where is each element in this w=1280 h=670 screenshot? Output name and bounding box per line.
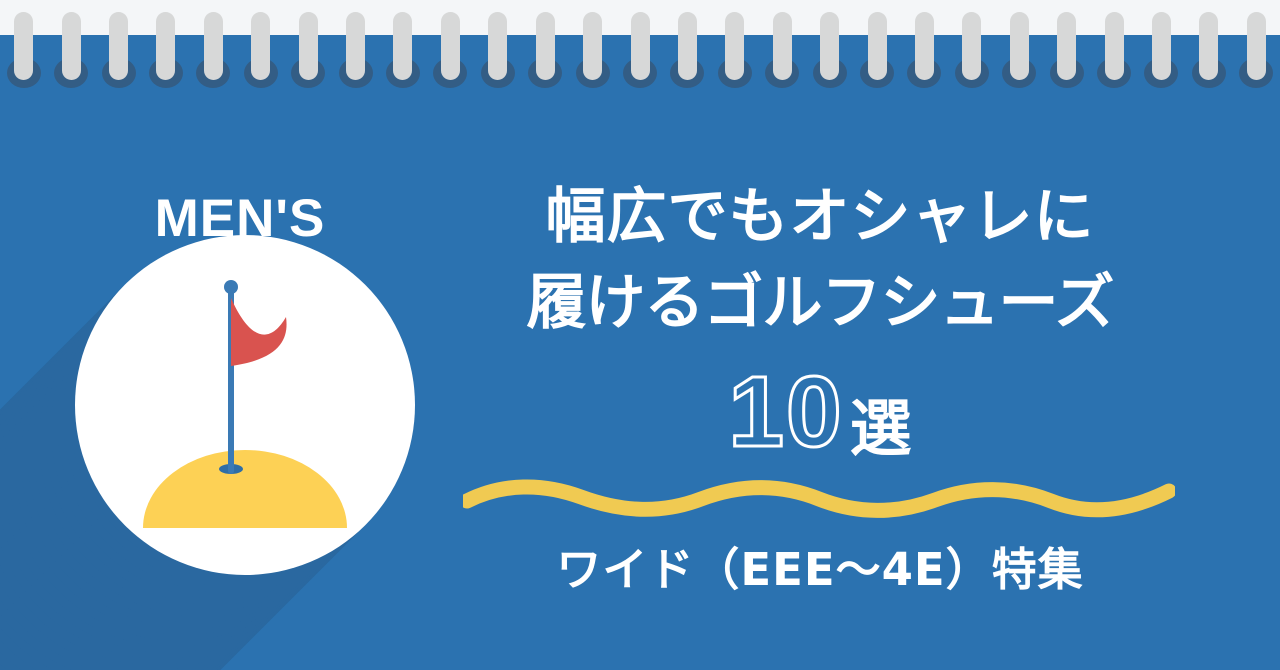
spiral-ring (536, 12, 555, 80)
spiral-ring (204, 12, 223, 80)
spiral-ring (820, 12, 839, 80)
spiral-ring (62, 12, 81, 80)
headline: 幅広でもオシャレに 履けるゴルフシューズ (455, 175, 1185, 347)
spiral-ring (1010, 12, 1029, 80)
subtitle: ワイド（EEE〜4E）特集 (455, 543, 1185, 597)
spiral-ring (678, 12, 697, 80)
headline-line-2: 履けるゴルフシューズ (455, 261, 1185, 347)
count-number: 10 (728, 362, 843, 464)
spiral-ring (631, 12, 650, 80)
spiral-ring (441, 12, 460, 80)
spiral-ring (393, 12, 412, 80)
wavy-line-icon (463, 475, 1175, 521)
spiral-ring (1199, 12, 1218, 80)
spiral-ring (583, 12, 602, 80)
paper-field: MEN'S 幅広でもオシャレに 履けるゴルフシューズ (0, 35, 1280, 670)
spiral-ring (1057, 12, 1076, 80)
count-suffix: 選 (850, 398, 912, 464)
banner-root: MEN'S 幅広でもオシャレに 履けるゴルフシューズ (0, 0, 1280, 670)
spiral-ring (299, 12, 318, 80)
headline-line-1: 幅広でもオシャレに (455, 175, 1185, 261)
spiral-binding (0, 0, 1280, 110)
count-row: 10 選 (455, 362, 1185, 464)
mens-label: MEN'S (0, 192, 480, 245)
spiral-ring (725, 12, 744, 80)
spiral-ring (156, 12, 175, 80)
wave-divider (463, 475, 1175, 521)
spiral-ring (1247, 12, 1266, 80)
spiral-ring (346, 12, 365, 80)
spiral-ring (915, 12, 934, 80)
spiral-ring (1152, 12, 1171, 80)
spiral-ring (109, 12, 128, 80)
spiral-ring (773, 12, 792, 80)
golf-flag-icon (75, 235, 415, 575)
spiral-ring (1105, 12, 1124, 80)
spiral-ring (962, 12, 981, 80)
spiral-ring (14, 12, 33, 80)
golf-icon (75, 235, 415, 575)
spiral-ring (868, 12, 887, 80)
content-block: 幅広でもオシャレに 履けるゴルフシューズ 10 選 ワイド（EEE〜4E）特集 (455, 35, 1185, 670)
spiral-ring (251, 12, 270, 80)
spiral-ring (488, 12, 507, 80)
